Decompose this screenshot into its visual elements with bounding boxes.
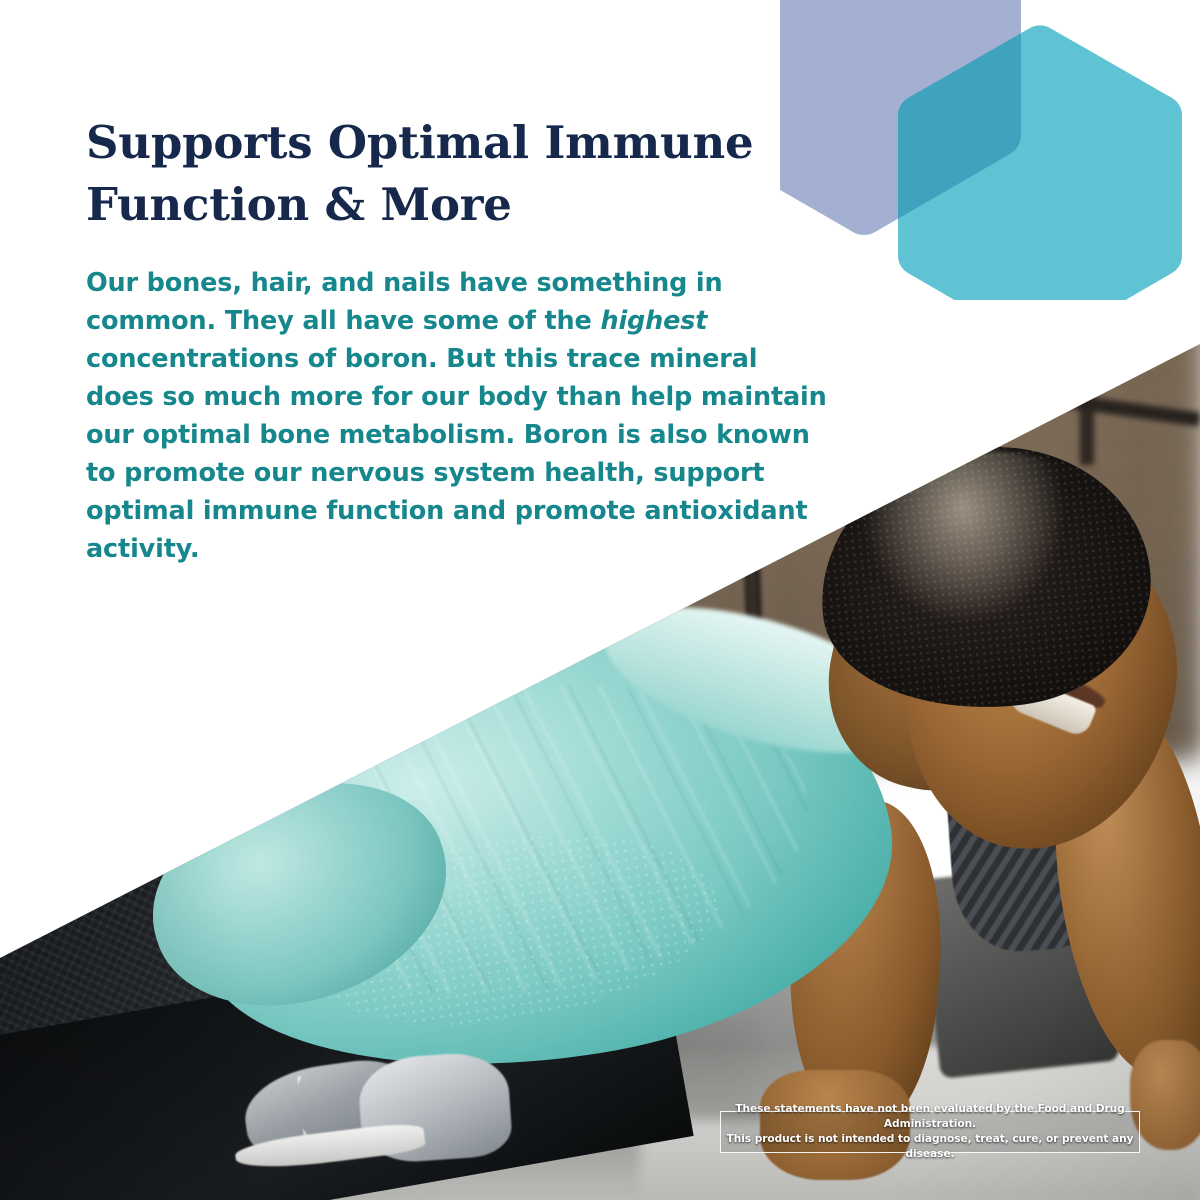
- body-text-emphasis: highest: [600, 306, 707, 336]
- hexagon-front-shape: [898, 25, 1182, 300]
- hexagon-back-shape: [780, 0, 1021, 235]
- overlapping-hexagons-logo: [780, 0, 1200, 300]
- body-text-part-2: concentrations of boron. But this trace …: [86, 344, 827, 564]
- body-paragraph: Our bones, hair, and nails have somethin…: [86, 264, 831, 568]
- hexagon-overlap-shape: [898, 25, 1182, 300]
- page-headline: Supports Optimal Immune Function & More: [86, 112, 786, 236]
- fda-disclaimer-box: These statements have not been evaluated…: [720, 1111, 1140, 1153]
- fda-disclaimer-line-2: This product is not intended to diagnose…: [721, 1132, 1139, 1162]
- fda-disclaimer-line-1: These statements have not been evaluated…: [721, 1102, 1139, 1132]
